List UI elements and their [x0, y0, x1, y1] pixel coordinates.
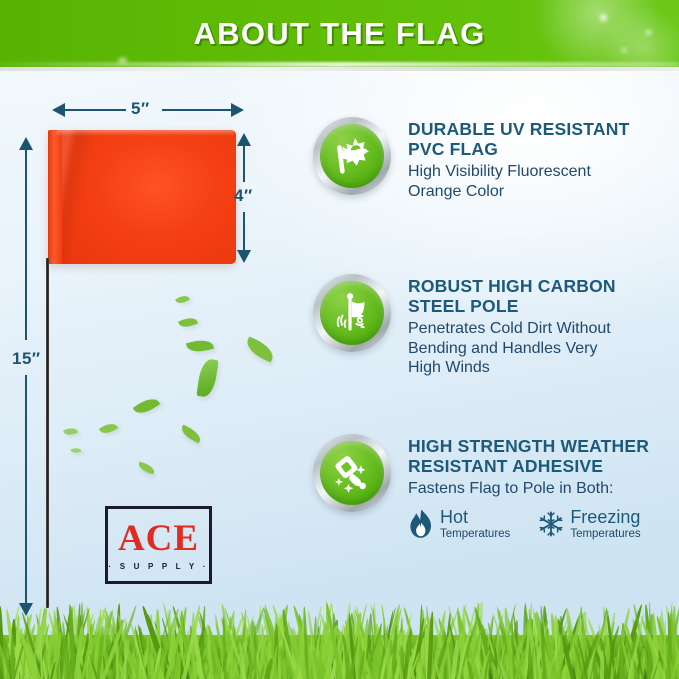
- width-dim-line-left: [64, 109, 126, 111]
- feature-text-block: ROBUST HIGH CARBON STEEL POLE Penetrates…: [408, 274, 616, 378]
- width-dim-line-right: [162, 109, 231, 111]
- temperature-text-block: Hot Temperatures: [440, 508, 510, 541]
- pole-dim-line-bottom: [25, 375, 27, 603]
- flag-sun-glyph: [329, 133, 375, 179]
- temperature-label: Freezing: [570, 508, 640, 526]
- height-dim-line-bottom: [243, 212, 245, 250]
- temperature-text-block: Freezing Temperatures: [570, 508, 640, 541]
- height-arrow-bottom-head: [237, 250, 251, 263]
- temperature-sublabel: Temperatures: [570, 527, 640, 541]
- temperature-item-hot: Hot Temperatures: [408, 508, 510, 541]
- leaf-decoration: [63, 426, 78, 437]
- width-dimension-label: 5″: [131, 99, 150, 119]
- height-arrow-top-head: [237, 133, 251, 146]
- leaf-decoration: [243, 337, 277, 363]
- page-title: ABOUT THE FLAG: [0, 0, 679, 67]
- grass-blade: [11, 635, 15, 679]
- leaf-decoration: [196, 358, 218, 398]
- pole-dimension-label: 15″: [12, 349, 41, 369]
- grass-blade: [136, 653, 140, 679]
- orange-flag: [48, 130, 236, 264]
- feature-item-steel-pole: ROBUST HIGH CARBON STEEL POLE Penetrates…: [313, 274, 616, 378]
- flag-pole: [46, 258, 49, 608]
- temperature-range-list: Hot Temperatures: [408, 508, 649, 541]
- leaf-decoration: [179, 425, 203, 444]
- feature-item-uv-resistant: DURABLE UV RESISTANT PVC FLAG High Visib…: [313, 117, 629, 201]
- flag-sun-icon: [313, 117, 391, 195]
- temperature-label: Hot: [440, 508, 510, 526]
- width-arrow-right-head: [231, 103, 244, 117]
- flag-pole-wind-glyph: [329, 290, 375, 336]
- pole-arrow-top-head: [19, 137, 33, 150]
- feature-description: Penetrates Cold Dirt Without Bending and…: [408, 319, 616, 378]
- feature-title: DURABLE UV RESISTANT PVC FLAG: [408, 119, 629, 159]
- leaf-decoration: [175, 293, 190, 305]
- leaf-decoration: [133, 394, 160, 418]
- feature-title: HIGH STRENGTH WEATHER RESISTANT ADHESIVE: [408, 436, 649, 476]
- snowflake-icon: [538, 509, 564, 539]
- leaf-decoration: [99, 420, 118, 436]
- leaf-decoration: [71, 447, 82, 455]
- feature-description: Fastens Flag to Pole in Both:: [408, 479, 649, 499]
- flame-icon: [408, 509, 434, 539]
- height-dim-line-top: [243, 146, 245, 182]
- feature-title: ROBUST HIGH CARBON STEEL POLE: [408, 276, 616, 316]
- adhesive-bottle-glyph: [329, 450, 375, 496]
- adhesive-bottle-icon: [313, 434, 391, 512]
- banner-underline: [0, 67, 679, 71]
- feature-text-block: HIGH STRENGTH WEATHER RESISTANT ADHESIVE…: [408, 434, 649, 541]
- leaf-decoration: [137, 462, 156, 475]
- brand-logo: ACE · S U P P L Y ·: [105, 506, 212, 584]
- height-dimension-label: 4″: [234, 186, 253, 206]
- leaf-decoration: [178, 315, 198, 330]
- header-banner: ABOUT THE FLAG: [0, 0, 679, 67]
- logo-name: ACE: [118, 520, 199, 557]
- leaf-decoration: [186, 337, 214, 355]
- flag-pole-wind-icon: [313, 274, 391, 352]
- feature-text-block: DURABLE UV RESISTANT PVC FLAG High Visib…: [408, 117, 629, 201]
- logo-subtitle: · S U P P L Y ·: [108, 562, 208, 571]
- pole-dim-line-top: [25, 150, 27, 340]
- feature-item-adhesive: HIGH STRENGTH WEATHER RESISTANT ADHESIVE…: [313, 434, 649, 541]
- grass-strip: [0, 593, 679, 679]
- feature-description: High Visibility Fluorescent Orange Color: [408, 162, 629, 201]
- temperature-sublabel: Temperatures: [440, 527, 510, 541]
- temperature-item-freezing: Freezing Temperatures: [538, 508, 640, 541]
- infographic-page: ABOUT THE FLAG 5″ 4″ 15″ ACE · S U P P L…: [0, 0, 679, 679]
